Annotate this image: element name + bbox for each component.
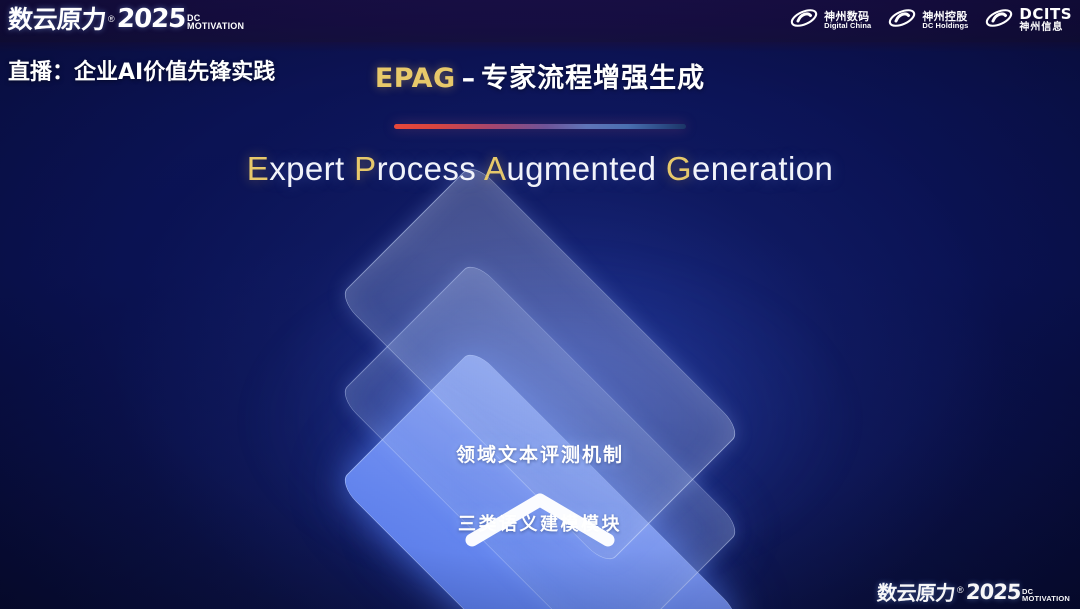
brand-logo-topleft: 数云原力 ® 2025 DC MOTIVATION — [8, 6, 244, 32]
swirl-icon — [789, 6, 819, 35]
swirl-icon — [887, 6, 917, 35]
live-subtitle: 直播：企业AI价值先锋实践 — [8, 54, 275, 86]
subtitle-cap-p: P — [354, 150, 376, 187]
subtitle-rest-generation: eneration — [692, 150, 833, 187]
subtitle-cap-g: G — [666, 150, 692, 187]
layered-stack-diagram: 领域文本评测机制 Dynamic MOE 长文本记忆 三类语义建模模块 — [0, 218, 1080, 578]
partner-name-cn: DCITS — [1019, 7, 1072, 23]
brand-logo-year: 2025 — [116, 6, 186, 32]
subtitle-rest-expert: xpert — [269, 150, 344, 187]
subtitle-word-process: Process — [354, 150, 476, 187]
partner-logo-digital-china: 神州数码 Digital China — [789, 6, 871, 35]
stack-plate-top — [338, 162, 742, 566]
slide-canvas: 数云原力 ® 2025 DC MOTIVATION 直播：企业AI价值先锋实践 … — [0, 0, 1080, 609]
page-title-acronym: EPAG — [375, 63, 456, 94]
brand-logo-year: 2025 — [965, 582, 1021, 603]
brand-logo-cn: 数云原力 — [7, 7, 107, 32]
brand-registered-mark: ® — [108, 15, 115, 24]
brand-motivation-line: MOTIVATION — [187, 22, 244, 31]
subtitle-rest-augmented: ugmented — [506, 150, 656, 187]
page-title-cn: 专家流程增强生成 — [481, 63, 705, 94]
partner-name-en: Digital China — [824, 22, 871, 30]
partner-name-en: DC Holdings — [922, 22, 968, 30]
subtitle-word-augmented: Augmented — [484, 150, 656, 187]
top-band-fade — [0, 42, 1080, 52]
brand-logo-dc-motivation: DC MOTIVATION — [187, 14, 244, 32]
partner-text-dc-holdings: 神州控股 DC Holdings — [922, 11, 968, 30]
partner-name-sub: 神州信息 — [1019, 23, 1072, 34]
partner-logo-dc-holdings: 神州控股 DC Holdings — [887, 6, 968, 35]
page-subtitle: Expert Process Augmented Generation — [0, 150, 1080, 188]
subtitle-cap-a: A — [484, 150, 506, 187]
swirl-icon — [984, 6, 1014, 35]
brand-logo-bottomright: 数云原力 ® 2025 DC MOTIVATION — [877, 582, 1070, 603]
brand-registered-mark: ® — [957, 586, 964, 595]
partner-text-digital-china: 神州数码 Digital China — [824, 11, 871, 30]
partner-logo-group: 神州数码 Digital China 神州控股 DC Holdings — [789, 6, 1072, 35]
subtitle-cap-e: E — [247, 150, 269, 187]
subtitle-rest-process: rocess — [377, 150, 477, 187]
page-title-dash: – — [456, 63, 482, 94]
partner-logo-dcits: DCITS 神州信息 — [984, 6, 1072, 35]
brand-motivation-line: MOTIVATION — [1022, 595, 1070, 602]
brand-logo-dc-motivation: DC MOTIVATION — [1022, 588, 1070, 603]
partner-text-dcits: DCITS 神州信息 — [1019, 7, 1072, 33]
stack-layer-top — [350, 174, 730, 554]
subtitle-word-generation: Generation — [666, 150, 833, 187]
gradient-divider — [394, 124, 686, 129]
subtitle-word-expert: Expert — [247, 150, 345, 187]
brand-logo-cn: 数云原力 — [876, 583, 955, 603]
